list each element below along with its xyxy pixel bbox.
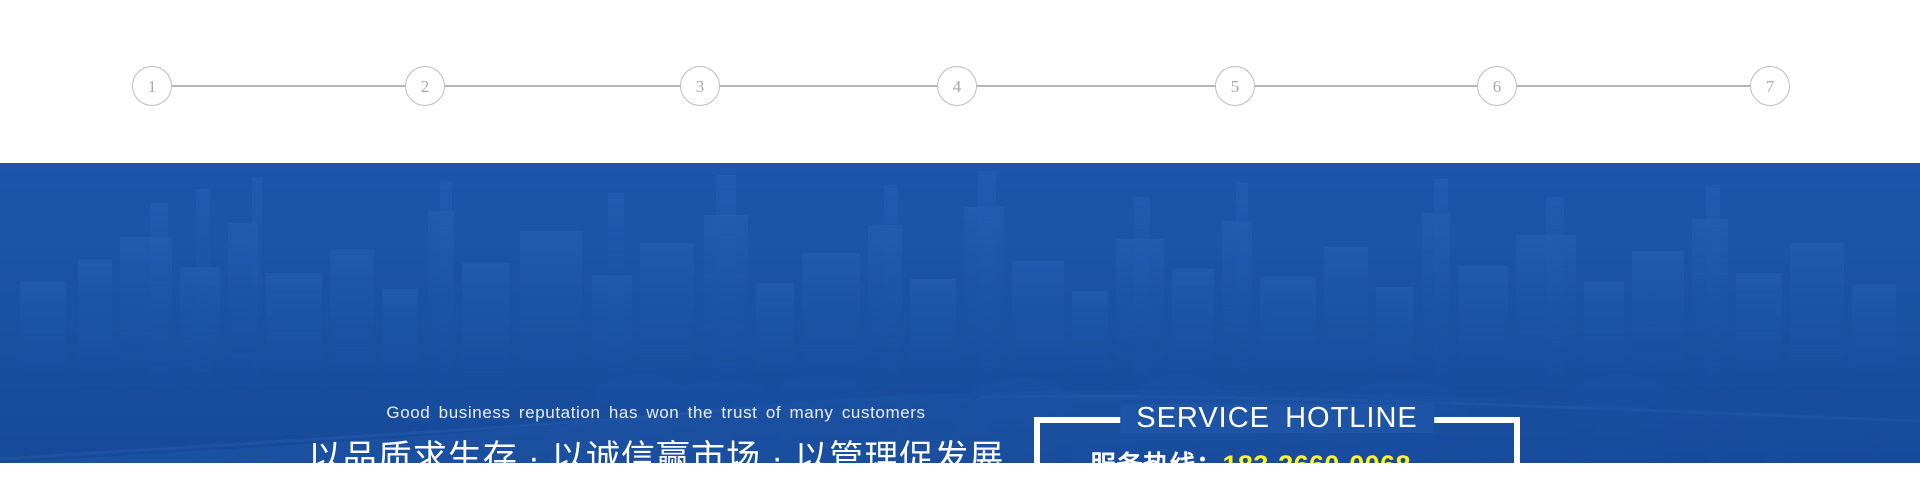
service-hotline-title: SERVICE HOTLINE [1120, 404, 1434, 433]
tagline-english: Good business reputation has won the tru… [300, 403, 1012, 423]
step-node-6[interactable]: 6 [1477, 66, 1517, 106]
step-node-5[interactable]: 5 [1215, 66, 1255, 106]
step-node-7-label: 7 [1766, 78, 1775, 95]
step-node-4[interactable]: 4 [937, 66, 977, 106]
hero-banner: Good business reputation has won the tru… [0, 163, 1920, 463]
hotline-number-mobile[interactable]: 183-2660-0068 [1223, 449, 1411, 463]
hotline-row-primary: 服务热线： 183-2660-0068 [1040, 449, 1514, 463]
step-node-1-label: 1 [148, 78, 157, 95]
hotline-label: 服务热线： [1090, 450, 1223, 463]
tagline-block: Good business reputation has won the tru… [300, 403, 1012, 463]
banner-page: 1 2 3 4 5 6 7 [0, 0, 1920, 500]
tagline-chinese-headline: 以品质求生存 · 以诚信赢市场 · 以管理促发展 [300, 439, 1012, 463]
step-node-7[interactable]: 7 [1750, 66, 1790, 106]
step-node-5-label: 5 [1231, 78, 1240, 95]
service-hotline-box: SERVICE HOTLINE 服务热线： 183-2660-0068 0551… [1034, 417, 1520, 463]
step-node-3-label: 3 [696, 78, 705, 95]
hotline-number-list: 服务热线： 183-2660-0068 0551-63749777 [1040, 449, 1514, 463]
step-node-2-label: 2 [421, 78, 430, 95]
step-progress-bar: 1 2 3 4 5 6 7 [0, 0, 1920, 163]
step-node-2[interactable]: 2 [405, 66, 445, 106]
step-node-3[interactable]: 3 [680, 66, 720, 106]
step-node-4-label: 4 [953, 78, 962, 95]
step-node-6-label: 6 [1493, 78, 1502, 95]
step-node-1[interactable]: 1 [132, 66, 172, 106]
